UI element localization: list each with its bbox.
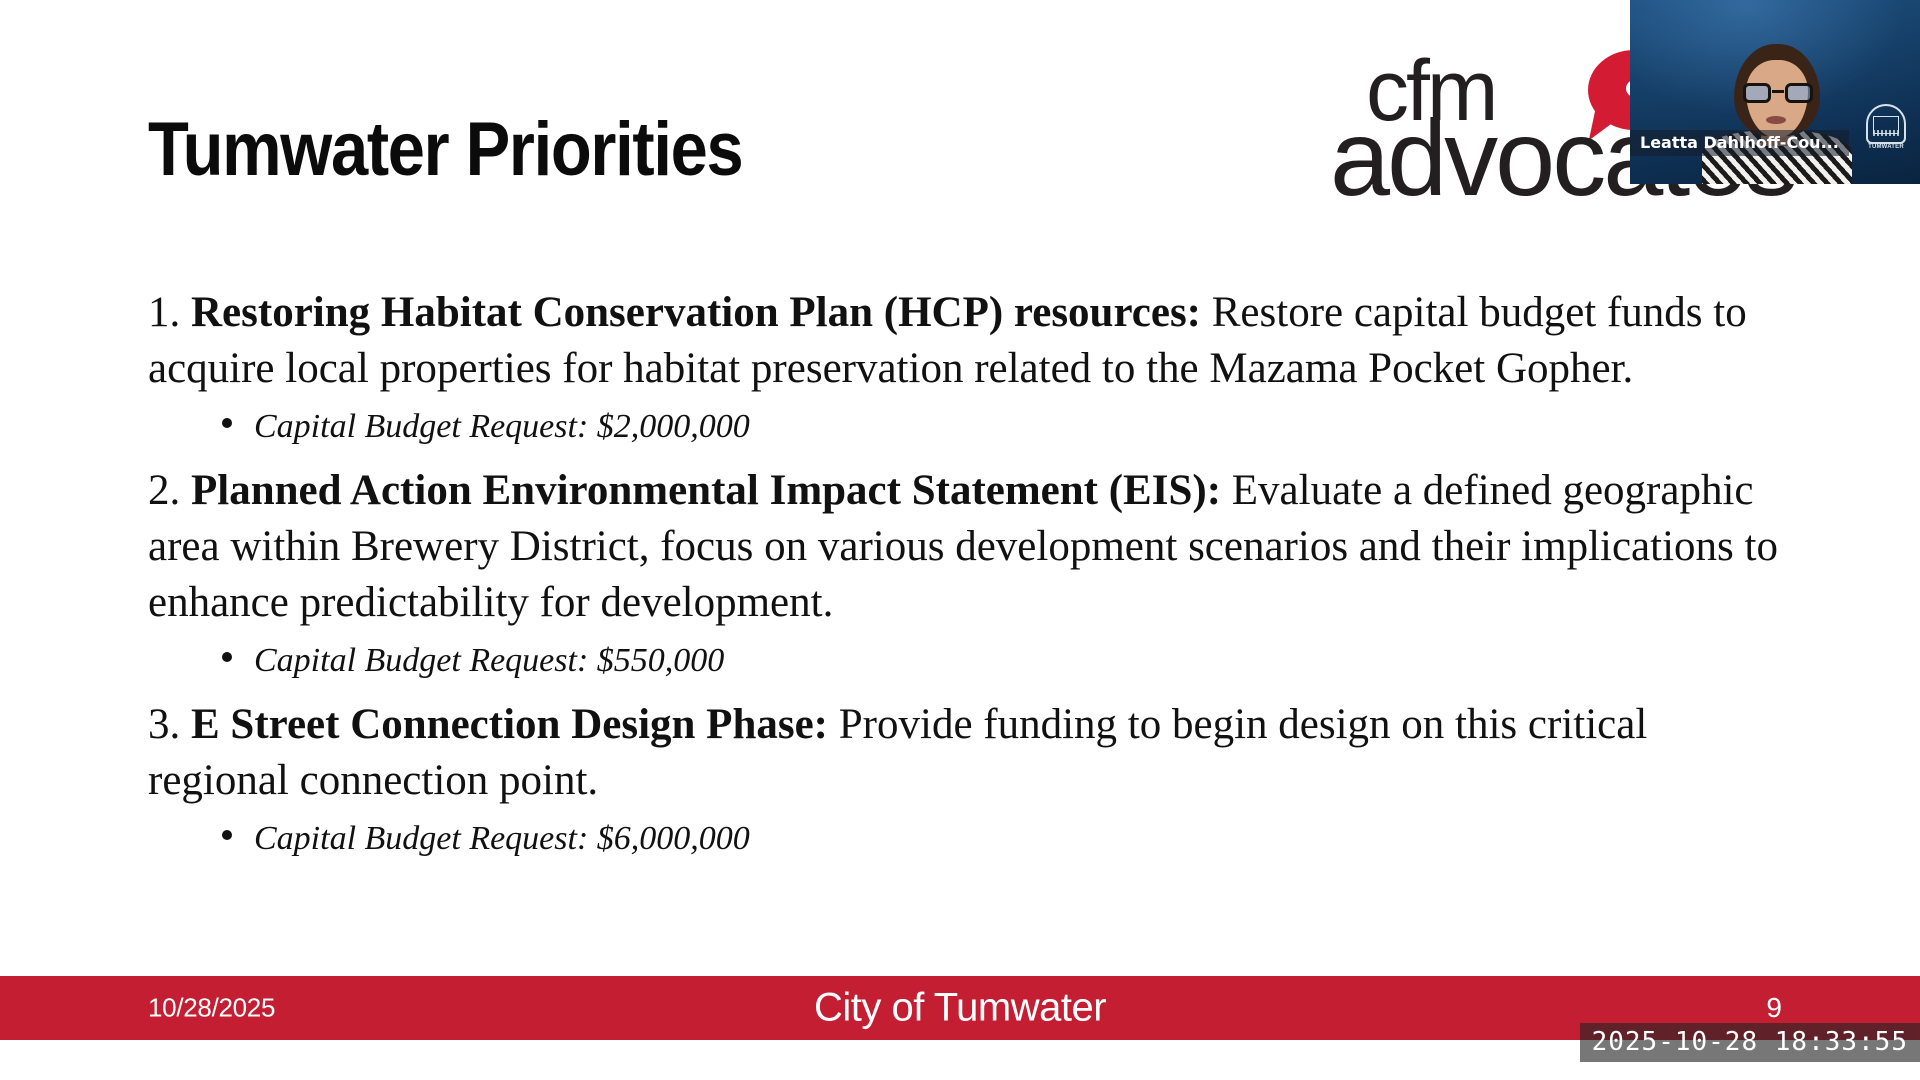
slide-body: 1. Restoring Habitat Conservation Plan (… [148,285,1788,875]
priority-paragraph: 3. E Street Connection Design Phase: Pro… [148,697,1788,809]
list-item: Capital Budget Request: $550,000 [148,639,1788,683]
priority-item: 3. E Street Connection Design Phase: Pro… [148,697,1788,861]
budget-request-text: Capital Budget Request: $6,000,000 [254,817,750,861]
priority-lead: Restoring Habitat Conservation Plan (HCP… [191,289,1201,336]
city-of-tumwater-seal-icon: TUMWATER [1866,104,1906,152]
seal-water-lines [1873,130,1899,136]
glasses-icon [1743,83,1813,103]
logo-speech-bubble-tail-icon [1589,107,1625,146]
priority-lead: E Street Connection Design Phase: [191,701,828,748]
priority-item: 1. Restoring Habitat Conservation Plan (… [148,285,1788,449]
glasses-bridge [1772,90,1784,93]
bullet-dot-icon [222,418,232,428]
video-participant-tile[interactable]: TUMWATER Leatta Dahlhoff-Cou... [1630,0,1920,184]
recording-timestamp: 2025-10-28 18:33:55 [1580,1023,1920,1062]
priority-item: 2. Planned Action Environmental Impact S… [148,463,1788,683]
presentation-slide: Tumwater Priorities cfm advocates 1. Res… [0,0,1920,1080]
participant-mouth [1766,116,1786,124]
glasses-lens-left [1743,83,1771,103]
glasses-lens-right [1785,83,1813,103]
seal-label: TUMWATER [1866,144,1906,151]
budget-request-text: Capital Budget Request: $550,000 [254,639,724,683]
bullet-dot-icon [222,652,232,662]
priority-number: 1. [148,289,180,336]
priority-lead: Planned Action Environmental Impact Stat… [191,467,1221,514]
page-title: Tumwater Priorities [148,112,742,188]
budget-request-text: Capital Budget Request: $2,000,000 [254,405,750,449]
list-item: Capital Budget Request: $6,000,000 [148,817,1788,861]
bullet-dot-icon [222,830,232,840]
footer-page-number: 9 [1766,992,1782,1024]
participant-name-label: Leatta Dahlhoff-Cou... [1630,130,1849,156]
priority-paragraph: 2. Planned Action Environmental Impact S… [148,463,1788,631]
logo-text-cfm: cfm [1366,48,1496,134]
priority-number: 3. [148,701,180,748]
list-item: Capital Budget Request: $2,000,000 [148,405,1788,449]
priority-paragraph: 1. Restoring Habitat Conservation Plan (… [148,285,1788,397]
priority-number: 2. [148,467,180,514]
